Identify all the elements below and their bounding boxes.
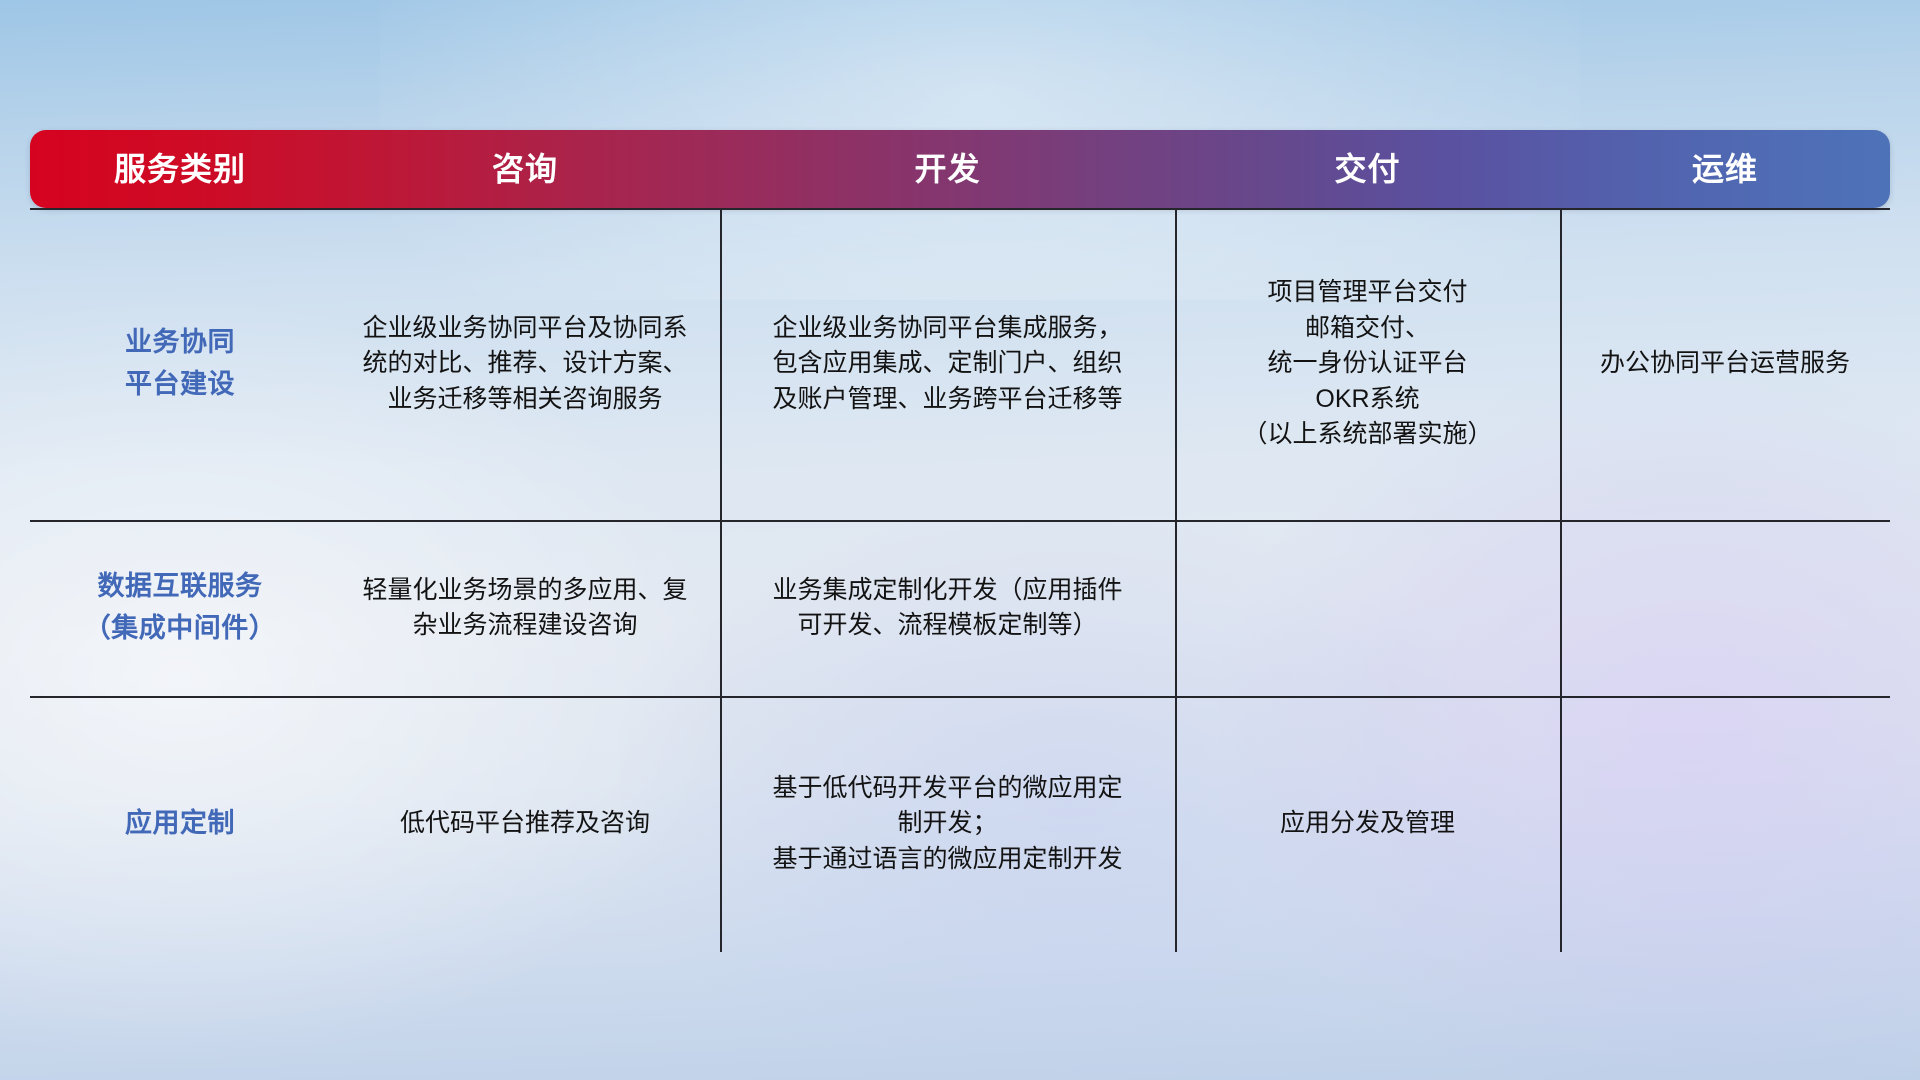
grid-line-vertical-2 (1175, 208, 1177, 952)
table-header-row: 服务类别 咨询 开发 交付 运维 (30, 130, 1890, 208)
table-row: 数据互联服务 （集成中间件） 轻量化业务场景的多应用、复 杂业务流程建设咨询 业… (30, 520, 1890, 696)
service-matrix-table: 服务类别 咨询 开发 交付 运维 业务协同 平台建设 企业级业务协同平台及协同系… (30, 130, 1890, 952)
header-cell-delivery: 交付 (1175, 153, 1560, 185)
header-cell-operations: 运维 (1560, 153, 1890, 185)
cell-delivery: 项目管理平台交付 邮箱交付、 统一身份认证平台 OKR系统 （以上系统部署实施） (1175, 208, 1560, 520)
grid-line-horizontal-2 (30, 696, 1890, 698)
cell-operations (1560, 520, 1890, 696)
cell-development: 企业级业务协同平台集成服务， 包含应用集成、定制门户、组织 及账户管理、业务跨平… (720, 208, 1175, 520)
header-cell-service-category: 服务类别 (30, 153, 330, 185)
table-row: 应用定制 低代码平台推荐及咨询 基于低代码开发平台的微应用定 制开发； 基于通过… (30, 696, 1890, 952)
cell-development: 基于低代码开发平台的微应用定 制开发； 基于通过语言的微应用定制开发 (720, 696, 1175, 952)
cell-consulting: 轻量化业务场景的多应用、复 杂业务流程建设咨询 (330, 520, 720, 696)
table-row: 业务协同 平台建设 企业级业务协同平台及协同系 统的对比、推荐、设计方案、 业务… (30, 208, 1890, 520)
cell-operations: 办公协同平台运营服务 (1560, 208, 1890, 520)
cell-delivery (1175, 520, 1560, 696)
table-body: 业务协同 平台建设 企业级业务协同平台及协同系 统的对比、推荐、设计方案、 业务… (30, 208, 1890, 952)
header-cell-development: 开发 (720, 153, 1175, 185)
row-category-label: 数据互联服务 （集成中间件） (30, 520, 330, 696)
cell-consulting: 企业级业务协同平台及协同系 统的对比、推荐、设计方案、 业务迁移等相关咨询服务 (330, 208, 720, 520)
row-category-label: 业务协同 平台建设 (30, 208, 330, 520)
grid-line-horizontal-1 (30, 520, 1890, 522)
cell-operations (1560, 696, 1890, 952)
grid-line-horizontal-top (30, 208, 1890, 210)
cell-delivery: 应用分发及管理 (1175, 696, 1560, 952)
grid-line-vertical-1 (720, 208, 722, 952)
grid-line-vertical-3 (1560, 208, 1562, 952)
cell-development: 业务集成定制化开发（应用插件 可开发、流程模板定制等） (720, 520, 1175, 696)
row-category-label: 应用定制 (30, 696, 330, 952)
cell-consulting: 低代码平台推荐及咨询 (330, 696, 720, 952)
header-cell-consulting: 咨询 (330, 153, 720, 185)
